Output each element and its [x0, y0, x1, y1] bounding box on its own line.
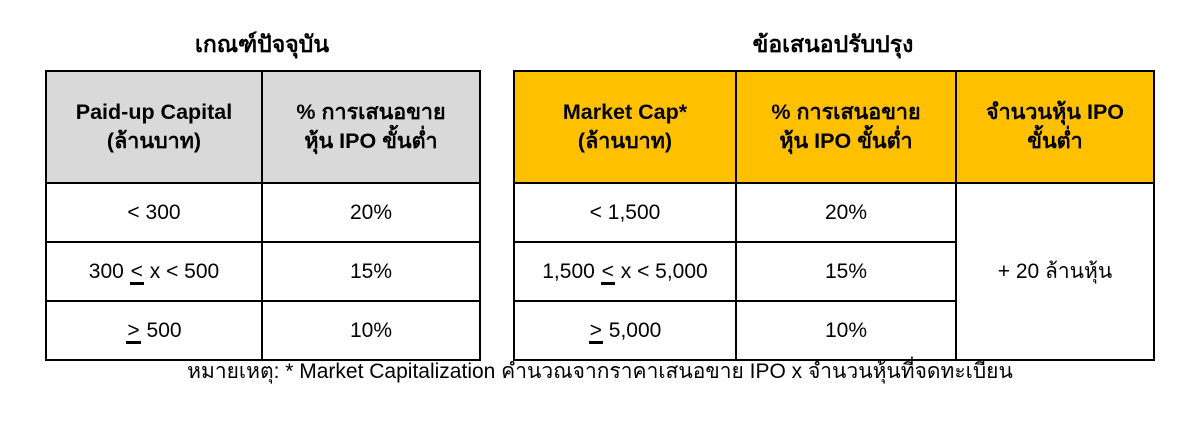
inequality-symbol-icon: <: [601, 260, 615, 284]
range-suffix: 5,000: [603, 319, 661, 342]
cell-offer-percent: 20%: [736, 183, 956, 242]
column-header-market-cap: Market Cap* (ล้านบาท): [514, 71, 736, 183]
range-prefix: < 300: [127, 201, 180, 224]
cell-capital-range: 300 < x < 500: [46, 242, 262, 301]
column-header-ipo-offer-percent: % การเสนอขาย หุ้น IPO ขั้นต่ำ: [262, 71, 480, 183]
table-row: 300 < x < 500 15%: [46, 242, 480, 301]
footnote-text: หมายเหตุ: * Market Capitalization คำนวณจ…: [0, 355, 1200, 388]
cell-offer-percent: 15%: [736, 242, 956, 301]
column-header-line1: % การเสนอขาย: [741, 98, 951, 127]
inequality-symbol-icon: >: [126, 319, 140, 343]
range-suffix: x < 5,000: [615, 260, 708, 283]
column-header-line2: หุ้น IPO ขั้นต่ำ: [267, 127, 475, 156]
table-row: < 1,500 20% + 20 ล้านหุ้น: [514, 183, 1154, 242]
column-header-line2: (ล้านบาท): [51, 127, 257, 156]
table-header-row: Paid-up Capital (ล้านบาท) % การเสนอขาย ห…: [46, 71, 480, 183]
cell-market-cap-range: 1,500 < x < 5,000: [514, 242, 736, 301]
column-header-min-ipo-shares: จำนวนหุ้น IPO ขั้นต่ำ: [956, 71, 1154, 183]
column-header-line1: จำนวนหุ้น IPO: [961, 98, 1149, 127]
table-row: > 500 10%: [46, 301, 480, 360]
cell-capital-range: < 300: [46, 183, 262, 242]
table-row: < 300 20%: [46, 183, 480, 242]
column-header-ipo-offer-percent: % การเสนอขาย หุ้น IPO ขั้นต่ำ: [736, 71, 956, 183]
cell-offer-percent: 20%: [262, 183, 480, 242]
column-header-line2: หุ้น IPO ขั้นต่ำ: [741, 127, 951, 156]
cell-offer-percent: 15%: [262, 242, 480, 301]
cell-offer-percent: 10%: [262, 301, 480, 360]
cell-capital-range: > 500: [46, 301, 262, 360]
cell-market-cap-range: > 5,000: [514, 301, 736, 360]
table-header-row: Market Cap* (ล้านบาท) % การเสนอขาย หุ้น …: [514, 71, 1154, 183]
current-criteria-title: เกณฑ์ปัจจุบัน: [45, 27, 479, 63]
cell-min-ipo-shares-merged: + 20 ล้านหุ้น: [956, 183, 1154, 360]
column-header-paid-up-capital: Paid-up Capital (ล้านบาท): [46, 71, 262, 183]
range-suffix: 500: [141, 319, 182, 342]
cell-market-cap-range: < 1,500: [514, 183, 736, 242]
cell-offer-percent: 10%: [736, 301, 956, 360]
range-prefix: < 1,500: [590, 201, 661, 224]
proposed-criteria-title: ข้อเสนอปรับปรุง: [513, 27, 1153, 63]
range-prefix: 300: [89, 260, 130, 283]
current-criteria-table: Paid-up Capital (ล้านบาท) % การเสนอขาย ห…: [45, 70, 481, 361]
column-header-line1: % การเสนอขาย: [267, 98, 475, 127]
column-header-line2: (ล้านบาท): [519, 127, 731, 156]
column-header-line1: Market Cap*: [519, 98, 731, 127]
range-suffix: x < 500: [144, 260, 219, 283]
inequality-symbol-icon: <: [130, 260, 144, 284]
column-header-line2: ขั้นต่ำ: [961, 127, 1149, 156]
range-prefix: 1,500: [542, 260, 600, 283]
proposed-criteria-table: Market Cap* (ล้านบาท) % การเสนอขาย หุ้น …: [513, 70, 1155, 361]
inequality-symbol-icon: >: [589, 319, 603, 343]
column-header-line1: Paid-up Capital: [51, 98, 257, 127]
